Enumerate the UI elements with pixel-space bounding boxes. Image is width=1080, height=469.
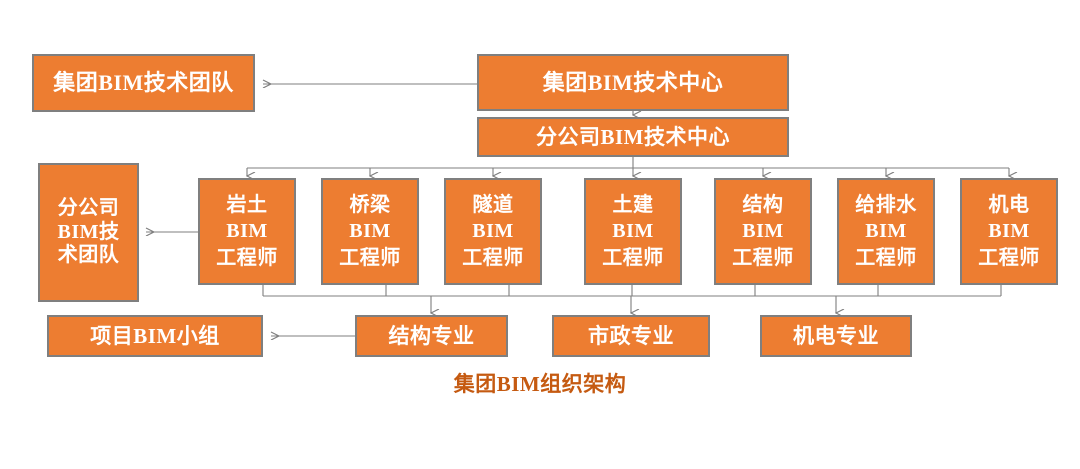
node-engineer-2[interactable]: 隧道 BIM 工程师 xyxy=(444,178,542,285)
node-specialty-1[interactable]: 市政专业 xyxy=(552,315,710,357)
node-engineer-3-label: 土建 BIM 工程师 xyxy=(600,192,666,271)
node-engineer-5[interactable]: 给排水 BIM 工程师 xyxy=(837,178,935,285)
node-branch-bim-team-label: 分公司 BIM技 术团队 xyxy=(56,197,122,268)
node-group-bim-center[interactable]: 集团BIM技术中心 xyxy=(477,54,789,111)
node-group-bim-team[interactable]: 集团BIM技术团队 xyxy=(32,54,255,112)
node-engineer-3[interactable]: 土建 BIM 工程师 xyxy=(584,178,682,285)
node-engineer-2-label: 隧道 BIM 工程师 xyxy=(460,192,526,271)
node-engineer-5-label: 给排水 BIM 工程师 xyxy=(853,192,919,271)
node-group-bim-team-label: 集团BIM技术团队 xyxy=(51,70,236,96)
node-specialty-0[interactable]: 结构专业 xyxy=(355,315,508,357)
node-branch-bim-center[interactable]: 分公司BIM技术中心 xyxy=(477,117,789,157)
node-branch-bim-team[interactable]: 分公司 BIM技 术团队 xyxy=(38,163,139,302)
node-engineer-0[interactable]: 岩土 BIM 工程师 xyxy=(198,178,296,285)
node-engineer-1[interactable]: 桥梁 BIM 工程师 xyxy=(321,178,419,285)
node-engineer-6[interactable]: 机电 BIM 工程师 xyxy=(960,178,1058,285)
node-engineer-0-label: 岩土 BIM 工程师 xyxy=(214,192,280,271)
node-specialty-2[interactable]: 机电专业 xyxy=(760,315,912,357)
node-engineer-4[interactable]: 结构 BIM 工程师 xyxy=(714,178,812,285)
diagram-caption: 集团BIM组织架构 xyxy=(0,368,1080,398)
node-group-bim-center-label: 集团BIM技术中心 xyxy=(541,70,726,96)
node-project-bim-group[interactable]: 项目BIM小组 xyxy=(47,315,263,357)
node-specialty-0-label: 结构专业 xyxy=(387,324,477,349)
node-branch-bim-center-label: 分公司BIM技术中心 xyxy=(534,125,732,150)
node-engineer-6-label: 机电 BIM 工程师 xyxy=(976,192,1042,271)
node-specialty-2-label: 机电专业 xyxy=(791,324,881,349)
node-specialty-1-label: 市政专业 xyxy=(586,324,676,349)
node-engineer-1-label: 桥梁 BIM 工程师 xyxy=(337,192,403,271)
node-project-bim-group-label: 项目BIM小组 xyxy=(88,324,222,349)
org-chart-diagram: 集团BIM技术团队 集团BIM技术中心 分公司BIM技术中心 分公司 BIM技 … xyxy=(0,0,1080,469)
node-engineer-4-label: 结构 BIM 工程师 xyxy=(730,192,796,271)
